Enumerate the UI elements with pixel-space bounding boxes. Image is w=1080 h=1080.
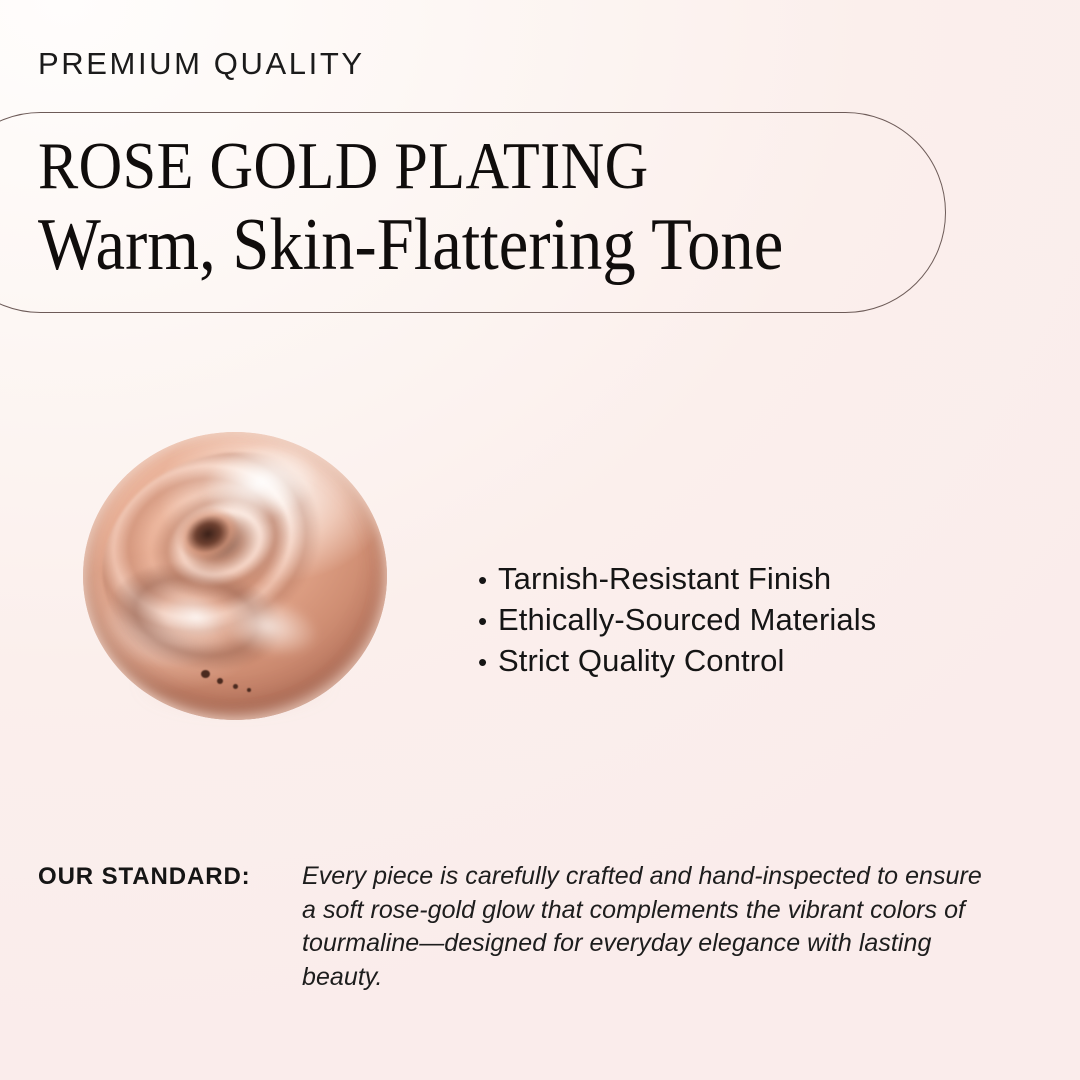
bullet-dot-icon: • xyxy=(478,601,498,642)
bullet-dot-icon: • xyxy=(478,642,498,683)
headline-block: ROSE GOLD PLATING Warm, Skin-Flattering … xyxy=(38,128,938,286)
promo-card: PREMIUM QUALITY ROSE GOLD PLATING Warm, … xyxy=(0,0,1080,1080)
list-item: • Tarnish-Resistant Finish xyxy=(478,558,1038,599)
list-item: • Ethically-Sourced Materials xyxy=(478,599,1038,640)
list-item-label: Ethically-Sourced Materials xyxy=(498,599,876,640)
sphere-rim-light xyxy=(83,432,387,720)
feature-list: • Tarnish-Resistant Finish • Ethically-S… xyxy=(478,558,1038,681)
product-image xyxy=(83,432,387,722)
headline-line-primary: ROSE GOLD PLATING xyxy=(38,128,848,204)
headline-line-secondary: Warm, Skin-Flattering Tone xyxy=(38,204,848,286)
rose-gold-sphere-icon xyxy=(83,432,387,720)
list-item-label: Tarnish-Resistant Finish xyxy=(498,558,831,599)
eyebrow-label: PREMIUM QUALITY xyxy=(38,44,365,84)
standard-note-label: OUR STANDARD: xyxy=(38,860,251,894)
standard-note-body: Every piece is carefully crafted and han… xyxy=(302,860,1002,994)
bullet-dot-icon: • xyxy=(478,560,498,601)
list-item: • Strict Quality Control xyxy=(478,640,1038,681)
list-item-label: Strict Quality Control xyxy=(498,640,784,681)
